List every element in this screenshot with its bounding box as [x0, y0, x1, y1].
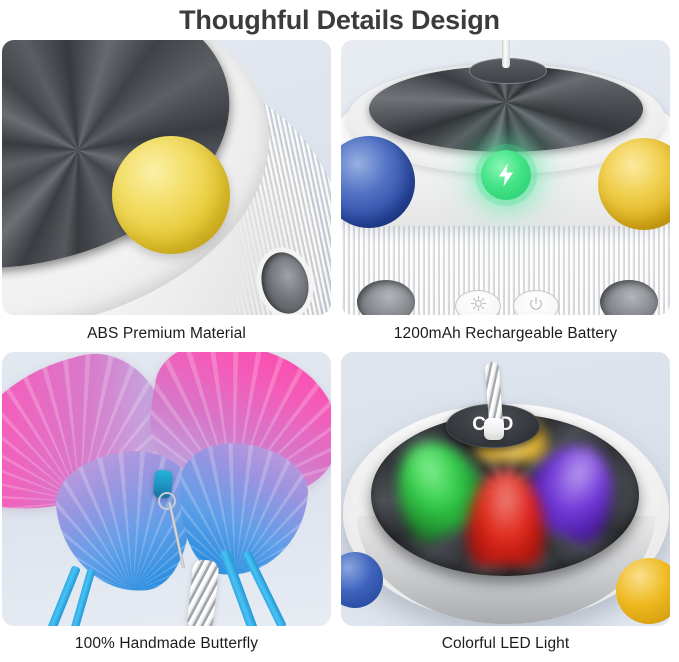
spring-coil [186, 559, 219, 626]
panel-colorful-led-light: CSD [341, 352, 670, 626]
yellow-ball [112, 136, 230, 254]
caption-abs-material: ABS Premium Material [2, 315, 331, 352]
caption-rechargeable-battery: 1200mAh Rechargeable Battery [341, 315, 670, 352]
page-title: Thoughful Details Design [0, 0, 679, 39]
wand-rod [502, 40, 510, 68]
panel-abs-material [2, 40, 331, 315]
wand-connector [484, 418, 504, 440]
feature-grid: ABS Premium Material 1200mAh Rechargeabl… [2, 40, 677, 660]
lightning-bolt-icon [497, 163, 515, 187]
light-mode-button[interactable] [455, 290, 501, 315]
panel-rechargeable-battery [341, 40, 670, 315]
attachment-ring [158, 492, 176, 510]
power-icon [528, 296, 544, 316]
panel-handmade-butterfly [2, 352, 331, 626]
charging-indicator [481, 150, 531, 200]
caption-handmade-butterfly: 100% Handmade Butterfly [2, 626, 331, 662]
yellow-ball [616, 558, 670, 624]
light-icon [470, 295, 487, 315]
power-button[interactable] [513, 290, 559, 315]
caption-colorful-led-light: Colorful LED Light [341, 626, 670, 662]
